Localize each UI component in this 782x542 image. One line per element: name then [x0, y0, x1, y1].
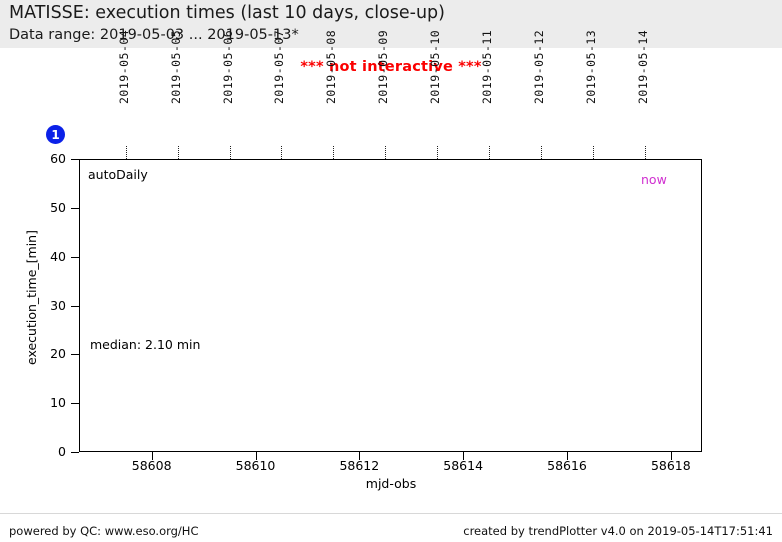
day-label: 2019-05-13 — [584, 30, 598, 104]
y-tick — [71, 452, 79, 453]
day-tick — [230, 146, 231, 159]
x-tick-label: 58608 — [122, 458, 182, 473]
plot-frame — [79, 159, 702, 452]
day-tick — [645, 146, 646, 159]
y-tick — [71, 354, 79, 355]
day-label: 2019-05-06 — [221, 30, 235, 104]
x-tick-label: 58610 — [226, 458, 286, 473]
day-label: 2019-05-11 — [480, 30, 494, 104]
data-range-subtitle: Data range: 2019-05-03 ... 2019-05-13* — [9, 27, 299, 43]
day-label: 2019-05-09 — [376, 30, 390, 104]
y-tick-label: 30 — [36, 298, 66, 313]
x-tick-label: 58614 — [433, 458, 493, 473]
day-tick — [178, 146, 179, 159]
y-tick-label: 10 — [36, 395, 66, 410]
day-tick — [541, 146, 542, 159]
now-label: now — [641, 172, 667, 187]
day-tick — [281, 146, 282, 159]
day-tick — [489, 146, 490, 159]
x-tick-label: 58618 — [641, 458, 701, 473]
day-label: 2019-05-08 — [324, 30, 338, 104]
y-tick — [71, 208, 79, 209]
y-tick-label: 60 — [36, 151, 66, 166]
day-tick — [385, 146, 386, 159]
page-title: MATISSE: execution times (last 10 days, … — [9, 3, 445, 23]
day-tick — [333, 146, 334, 159]
y-tick — [71, 306, 79, 307]
footer-credit-left: powered by QC: www.eso.org/HC — [9, 524, 198, 538]
series-label: autoDaily — [88, 167, 148, 182]
day-label: 2019-05-14 — [636, 30, 650, 104]
y-axis-title: execution_time_[min] — [24, 230, 39, 365]
day-tick — [437, 146, 438, 159]
y-tick — [71, 257, 79, 258]
y-tick-label: 50 — [36, 200, 66, 215]
trend-plot-page: MATISSE: execution times (last 10 days, … — [0, 0, 782, 542]
day-tick — [126, 146, 127, 159]
day-label: 2019-05-07 — [272, 30, 286, 104]
median-label: median: 2.10 min — [90, 337, 200, 352]
day-label: 2019-05-10 — [428, 30, 442, 104]
footer-divider — [0, 513, 782, 514]
day-label: 2019-05-05 — [169, 30, 183, 104]
x-axis-title: mjd-obs — [0, 476, 782, 491]
day-tick — [593, 146, 594, 159]
footer-credit-right: created by trendPlotter v4.0 on 2019-05-… — [463, 524, 773, 538]
y-tick-label: 40 — [36, 249, 66, 264]
y-tick — [71, 403, 79, 404]
day-label: 2019-05-12 — [532, 30, 546, 104]
y-tick-label: 0 — [36, 444, 66, 459]
panel-index-badge: 1 — [46, 125, 65, 144]
y-tick — [71, 159, 79, 160]
x-tick-label: 58612 — [329, 458, 389, 473]
day-label: 2019-05-04 — [117, 30, 131, 104]
x-tick-label: 58616 — [537, 458, 597, 473]
y-tick-label: 20 — [36, 346, 66, 361]
